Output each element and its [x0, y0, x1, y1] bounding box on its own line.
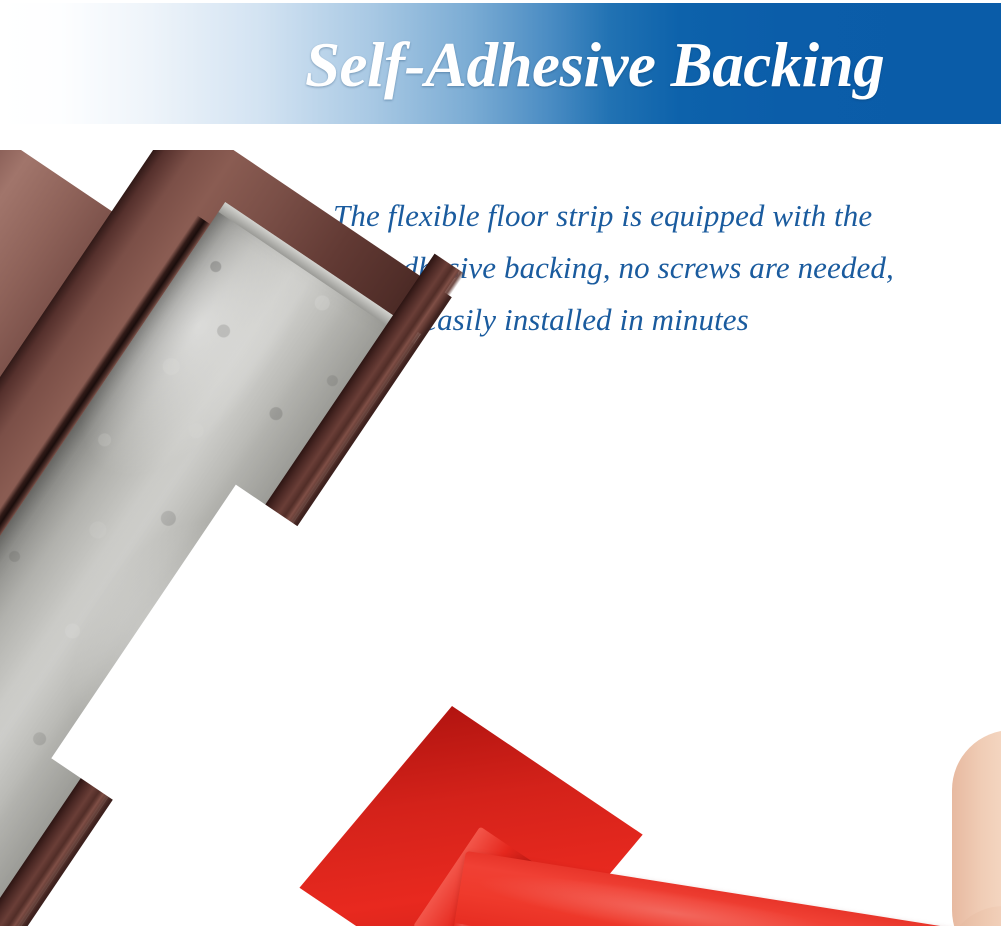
- product-photo: [0, 150, 1001, 926]
- header-banner: Self-Adhesive Backing: [0, 3, 1001, 124]
- release-liner-tape: [444, 851, 970, 926]
- release-liner-highlight: [473, 862, 872, 926]
- finger: [952, 730, 1001, 926]
- product-feature-image: Self-Adhesive Backing The flexible floor…: [0, 0, 1001, 926]
- page-title: Self-Adhesive Backing: [305, 17, 1001, 113]
